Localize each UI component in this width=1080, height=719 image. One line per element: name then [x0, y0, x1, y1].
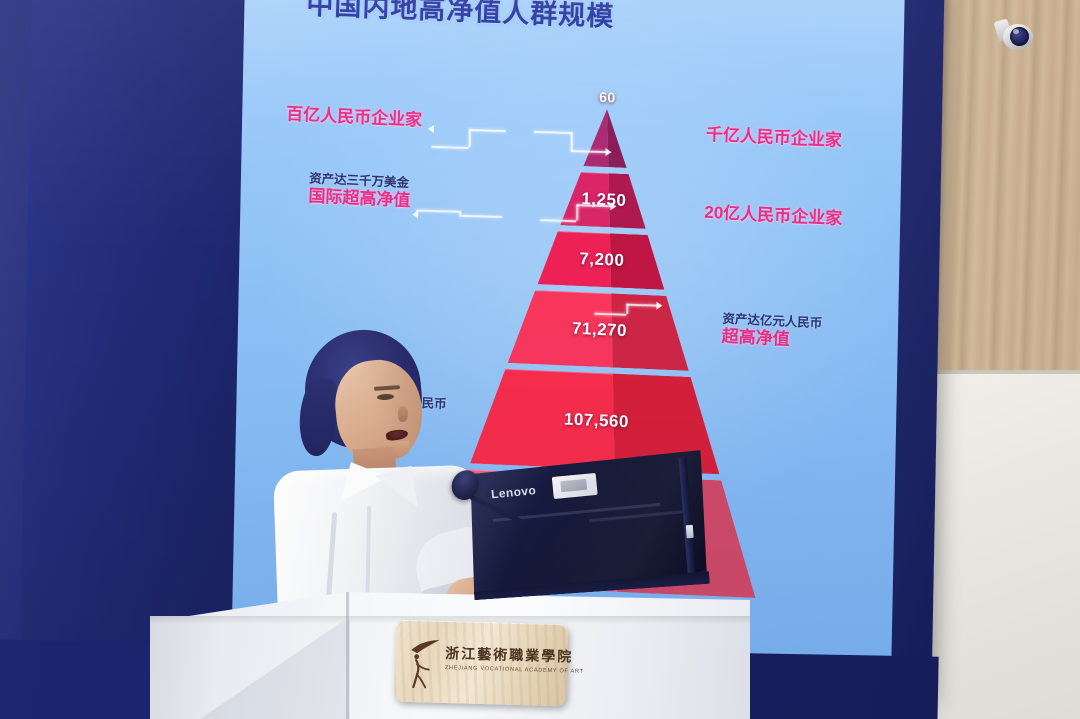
camera-lens-glint — [1013, 29, 1019, 34]
presentation-photo-scene: 中国内地高净值人群规模 601,2507,20071,270107,5603,4… — [0, 0, 1080, 719]
podium-corner-edge — [346, 592, 349, 719]
presenter-nose — [398, 406, 408, 422]
dancer-figure-logo — [406, 636, 441, 689]
screen-left-column — [20, 0, 244, 676]
security-camera-icon — [994, 18, 1038, 58]
presenter-hair-side — [296, 376, 340, 457]
plaque-chinese-name: 浙江藝術職業學院 — [445, 643, 574, 667]
venue-plaque: 浙江藝術職業學院 ZHEJIANG VOCATIONAL ACADEMY OF … — [394, 620, 568, 707]
screen-column-sheen — [20, 0, 244, 676]
laptop-icon[interactable]: Lenovo — [465, 450, 715, 614]
laptop-side-badge — [686, 525, 694, 538]
laptop-sticker-inner — [560, 479, 587, 492]
laptop-sticker — [552, 473, 598, 499]
